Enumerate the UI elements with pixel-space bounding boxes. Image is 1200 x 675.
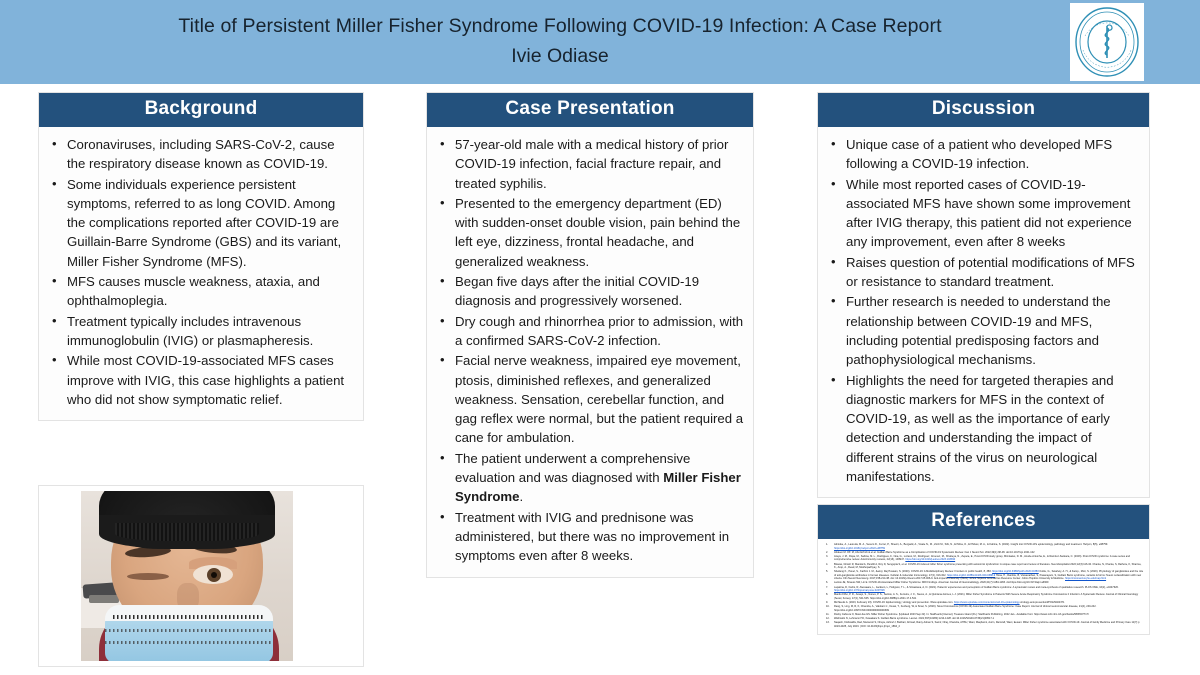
- reference-item: Biswas, Ghosh R, Mandal A, Panditl A, Ro…: [834, 563, 1144, 570]
- column-background: Background Coronaviruses, including SARS…: [38, 92, 364, 421]
- panel-references: References Adnioke, A., Laureda, M. A., …: [817, 504, 1150, 635]
- bullet-list-discussion: Unique case of a patient who developed M…: [822, 135, 1141, 486]
- bullet-item: Further research is needed to understand…: [844, 292, 1141, 369]
- reference-item: Rang, S, Ling, M, R, K, Chandra, A., Vak…: [834, 605, 1144, 612]
- bullet-item: MFS causes muscle weakness, ataxia, and …: [65, 272, 355, 311]
- reference-item: Rocky Cabrera O, Masl-Jua GS. Miller Fis…: [834, 613, 1144, 617]
- section-heading-references: References: [818, 505, 1149, 539]
- photo-mask-pleat: [105, 641, 273, 644]
- section-heading-discussion: Discussion: [818, 93, 1149, 127]
- section-heading-background: Background: [39, 93, 363, 127]
- panel-discussion: Discussion Unique case of a patient who …: [817, 92, 1150, 498]
- photo-iris: [207, 568, 221, 582]
- panel-body-background: Coronaviruses, including SARS-CoV-2, cau…: [39, 127, 363, 420]
- bullet-item: Raises question of potential modificatio…: [844, 253, 1141, 292]
- photo-ptosis-closed-eye: [127, 573, 169, 580]
- bullet-item: While most reported cases of COVID-19-as…: [844, 175, 1141, 252]
- reference-item: Naqash, Kishwatlfa, Dad, Mansoori S, Nir…: [834, 621, 1144, 628]
- reference-list: Adnioke, A., Laureda, M. A., Severo D., …: [823, 543, 1144, 628]
- bullet-item: Highlights the need for targeted therapi…: [844, 371, 1141, 487]
- photo-mask-pleat: [105, 629, 273, 632]
- bullet-item: Treatment typically includes intravenous…: [65, 312, 355, 351]
- column-discussion: Discussion Unique case of a patient who …: [817, 92, 1150, 498]
- page-title: Title of Persistent Miller Fisher Syndro…: [60, 12, 1060, 40]
- institution-logo: [1070, 3, 1144, 81]
- section-heading-case-presentation: Case Presentation: [427, 93, 753, 127]
- bullet-item: Presented to the emergency department (E…: [453, 194, 745, 271]
- patient-photo-image: [81, 491, 293, 661]
- bullet-item: 57-year-old male with a medical history …: [453, 135, 745, 193]
- panel-body-case-presentation: 57-year-old male with a medical history …: [427, 127, 753, 577]
- bullet-item: While most COVID-19-associated MFS cases…: [65, 351, 355, 409]
- reference-item: Manlio Filho, P. R., Araujo, S., Nunes, …: [834, 593, 1144, 600]
- bullet-item: The patient underwent a comprehensive ev…: [453, 449, 745, 507]
- panel-background: Background Coronaviruses, including SARS…: [38, 92, 364, 421]
- bullet-item: Unique case of a patient who developed M…: [844, 135, 1141, 174]
- patient-photo-panel: [38, 485, 364, 667]
- poster-author: Ivie Odiase: [60, 42, 1060, 70]
- column-case-presentation: Case Presentation 57-year-old male with …: [426, 92, 754, 578]
- reference-item: Lapatina, D, Cartis, R, Alessaara, L., J…: [834, 586, 1144, 593]
- medical-seal-icon: [1073, 6, 1141, 78]
- reference-item: Abdeen M. Off. M, Abo Ezhoh & et al. Gui…: [834, 551, 1144, 555]
- bullet-item: Treatment with IVIG and prednisone was a…: [453, 508, 745, 566]
- bullet-item: Coronaviruses, including SARS-CoV-2, cau…: [65, 135, 355, 174]
- photo-clutter-object-2: [89, 595, 119, 603]
- poster-banner: Title of Persistent Miller Fisher Syndro…: [0, 0, 1200, 84]
- bullet-item: Dry cough and rhinorrhea prior to admiss…: [453, 312, 745, 351]
- bullet-item: Some individuals experience persistent s…: [65, 175, 355, 271]
- panel-body-discussion: Unique case of a patient who developed M…: [818, 127, 1149, 497]
- reference-item: Adnioke, A., Laureda, M. A., Severo D., …: [834, 543, 1144, 550]
- photo-mask-top-edge: [105, 605, 273, 621]
- bullet-list-case-presentation: 57-year-old male with a medical history …: [431, 135, 745, 566]
- reference-item: Waltrouilo N, Lehmann HC, Kawakara S. Gu…: [834, 617, 1144, 621]
- banner-title-wrap: Title of Persistent Miller Fisher Syndro…: [60, 12, 1060, 70]
- references-body: Adnioke, A., Laureda, M. A., Severo D., …: [818, 539, 1149, 634]
- reference-item: Sheilang K., Pavel, S., Kathrin J. M., &…: [834, 570, 1144, 581]
- bullet-item: Facial nerve weakness, impaired eye move…: [453, 351, 745, 447]
- panel-case-presentation: Case Presentation 57-year-old male with …: [426, 92, 754, 578]
- bullet-list-background: Coronaviruses, including SARS-CoV-2, cau…: [43, 135, 355, 409]
- reference-item: Araya, J. M., Ropa, M., Sabina, M. L., R…: [834, 555, 1144, 562]
- photo-beanie-brim: [99, 515, 275, 549]
- reference-item: Michkeuls A. (2023, February 23). COVID-…: [834, 601, 1144, 605]
- photo-pupil: [211, 572, 217, 578]
- bullet-item: Began five days after the initial COVID-…: [453, 272, 745, 311]
- reference-item: Lantos JE, Strauss SW, Lin E. COVID-19-A…: [834, 581, 1144, 585]
- photo-open-eye: [193, 565, 233, 584]
